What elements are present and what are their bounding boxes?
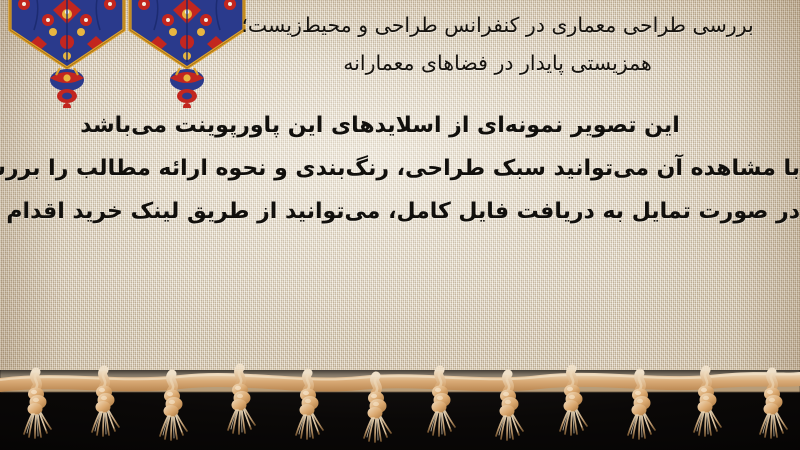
slide-body: این تصویر نمونه‌ای از اسلایدهای این پاور… xyxy=(0,104,800,233)
slide-text-layer: بررسی طراحی معماری در کنفرانس طراحی و مح… xyxy=(0,0,800,392)
carpet-tassel-fringe xyxy=(0,358,800,450)
body-line: این تصویر نمونه‌ای از اسلایدهای این پاور… xyxy=(0,104,800,147)
body-line: در صورت تمایل به دریافت فایل کامل، می‌تو… xyxy=(0,190,800,233)
slide-canvas: بررسی طراحی معماری در کنفرانس طراحی و مح… xyxy=(0,0,800,450)
slide-title: بررسی طراحی معماری در کنفرانس طراحی و مح… xyxy=(215,6,780,82)
body-line: با مشاهده آن می‌توانید سبک طراحی، رنگ‌بن… xyxy=(0,147,800,190)
